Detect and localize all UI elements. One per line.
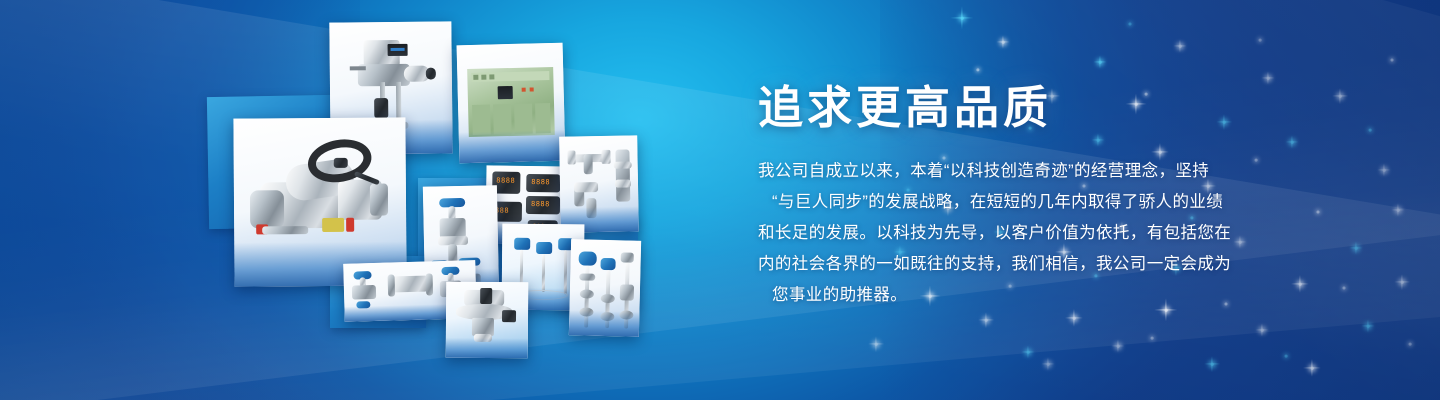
photo-level-gauges	[569, 239, 641, 337]
photo-card-level-gauges	[569, 239, 641, 337]
photo-card-pressure-regulator	[446, 282, 529, 359]
product-photo-collage: 8888 8888 8888 888 888	[0, 0, 680, 400]
photo-card-handwheel-actuator	[233, 117, 406, 286]
banner-text-block: 追求更高品质 我公司自成立以来，本着“以科技创造奇迹”的经营理念，坚持“与巨人同…	[758, 84, 1288, 311]
paragraph-line: 和长足的发展。以科技为先导，以客户价值为依托，有包括您在	[758, 218, 1282, 249]
photo-card-switchgear	[457, 43, 566, 164]
photo-card-pipe-fittings	[559, 135, 639, 232]
paragraph-line: 内的社会各界的一如既往的支持，我们相信，我公司一定会成为	[758, 249, 1282, 280]
photo-pipe-fittings	[559, 135, 639, 232]
photo-handwheel-actuator	[233, 117, 406, 286]
paragraph-line: “与巨人同步”的发展战略，在短短的几年内取得了骄人的业绩	[758, 187, 1282, 218]
banner-paragraph: 我公司自成立以来，本着“以科技创造奇迹”的经营理念，坚持“与巨人同步”的发展战略…	[758, 156, 1282, 311]
promo-banner: 8888 8888 8888 888 888	[0, 0, 1440, 400]
paragraph-line: 您事业的助推器。	[758, 280, 1282, 311]
paragraph-line: 我公司自成立以来，本着“以科技创造奇迹”的经营理念，坚持	[758, 156, 1282, 187]
photo-pressure-regulator	[446, 282, 529, 359]
photo-switchgear	[457, 43, 566, 164]
banner-headline: 追求更高品质	[758, 84, 1288, 133]
